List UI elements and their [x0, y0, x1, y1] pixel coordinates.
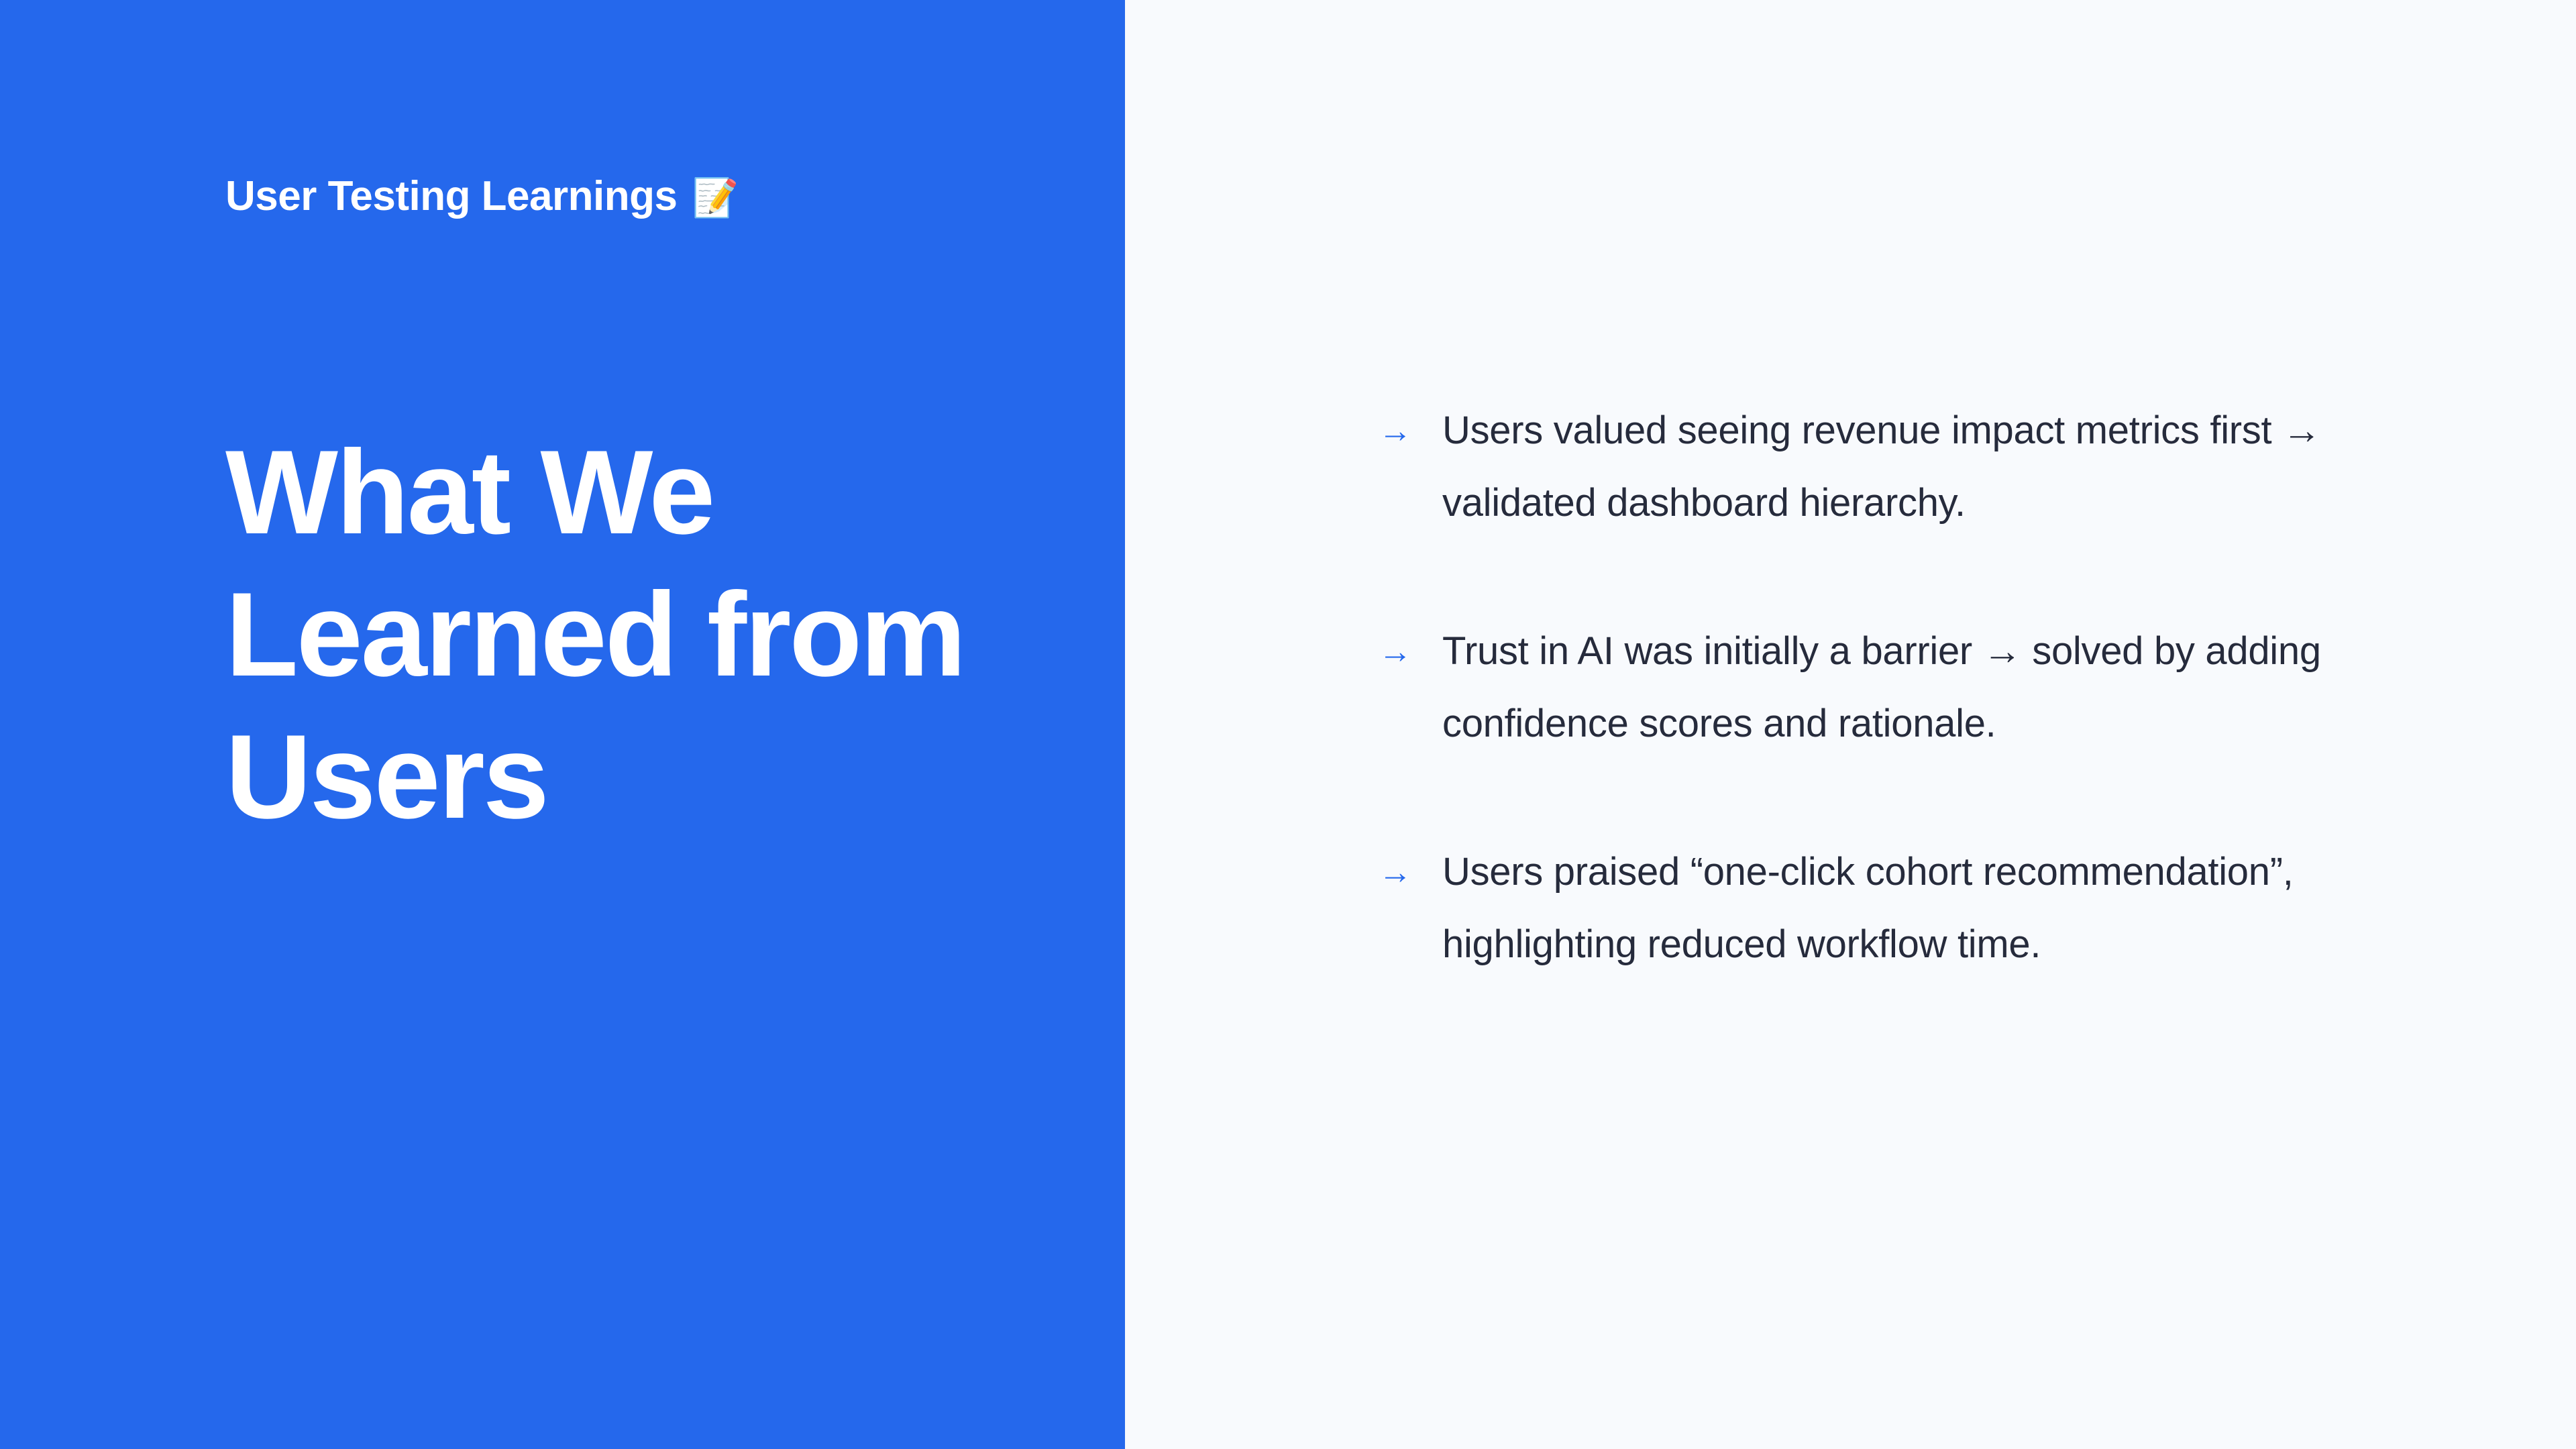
slide-eyebrow: User Testing Learnings 📝: [225, 172, 739, 221]
list-item-text: Users praised “one-click cohort recommen…: [1442, 836, 2418, 981]
arrow-right-icon: →: [1379, 615, 1419, 688]
slide-left-panel: User Testing Learnings 📝 What We Learned…: [0, 0, 1125, 1449]
arrow-right-icon: →: [1379, 394, 1419, 467]
list-item: → Users praised “one-click cohort recomm…: [1379, 836, 2425, 981]
memo-emoji-icon: 📝: [692, 179, 738, 217]
page-title: What We Learned from Users: [225, 421, 1030, 847]
slide-eyebrow-label: User Testing Learnings: [225, 172, 677, 221]
list-item: → Users valued seeing revenue impact met…: [1379, 394, 2425, 539]
key-learnings-list: → Users valued seeing revenue impact met…: [1379, 394, 2425, 981]
presentation-slide: User Testing Learnings 📝 What We Learned…: [0, 0, 2576, 1449]
slide-right-panel: → Users valued seeing revenue impact met…: [1125, 0, 2576, 1449]
list-item-text: Users valued seeing revenue impact metri…: [1442, 394, 2418, 539]
arrow-right-icon: →: [1379, 836, 1419, 908]
list-item-text: Trust in AI was initially a barrier → so…: [1442, 615, 2418, 760]
list-item: → Trust in AI was initially a barrier → …: [1379, 615, 2425, 760]
